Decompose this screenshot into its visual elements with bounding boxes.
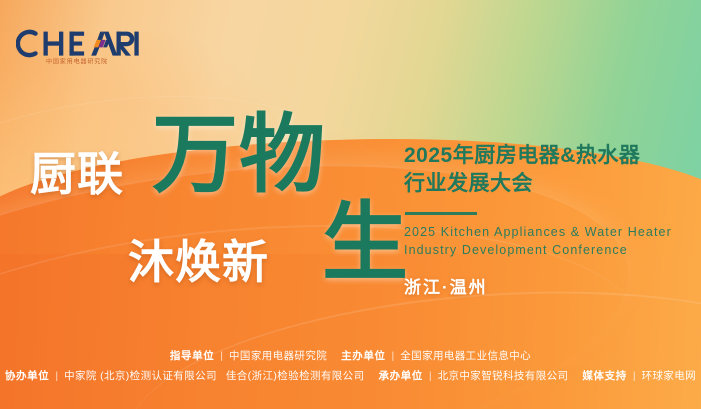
headline-sheng: 生 [322, 200, 409, 286]
headline-muhuanxin: 沐焕新 [128, 226, 269, 292]
event-info-block: 2025年厨房电器&热水器 行业发展大会 2025 Kitchen Applia… [404, 142, 690, 298]
cheari-logo-subtitle: 中国家用电器研究院 [46, 57, 108, 65]
event-title-en-line2: Industry Development Conference [404, 242, 690, 260]
credit-label: 媒体支持 [582, 367, 626, 387]
conference-banner: 中国家用电器研究院 厨联 万物 沐焕新 生 2025年厨房电器&热水器 行业发展… [0, 0, 701, 409]
credit-item: 佳合(浙江)检验检测有限公司 [226, 367, 365, 387]
credit-separator: | [220, 347, 223, 367]
credit-value: 北京中家智锐科技有限公司 [438, 367, 569, 387]
event-title-en-line1: 2025 Kitchen Appliances & Water Heater [404, 224, 690, 242]
credit-label: 承办单位 [378, 367, 422, 387]
event-location: 浙江·温州 [404, 273, 690, 298]
credit-item: 承办单位 | 北京中家智锐科技有限公司 [378, 367, 568, 387]
cheari-logo: 中国家用电器研究院 [16, 28, 140, 66]
credit-separator: | [633, 367, 636, 387]
credit-label: 主办单位 [341, 347, 385, 367]
credit-separator: | [55, 367, 58, 387]
credit-value: 中国家用电器研究院 [229, 347, 327, 367]
credit-item: 指导单位 | 中国家用电器研究院 [170, 347, 327, 367]
event-title-cn-line1: 2025年厨房电器&热水器 [404, 142, 690, 170]
title-divider-rule [405, 212, 477, 215]
headline-chulian: 厨联 [30, 138, 124, 204]
credits-row-2: 协办单位 | 中家院 (北京)检测认证有限公司 佳合(浙江)检验检测有限公司 承… [0, 367, 701, 387]
credit-item: 主办单位 | 全国家用电器工业信息中心 [341, 347, 531, 367]
credit-separator: | [392, 347, 395, 367]
credits-row-1: 指导单位 | 中国家用电器研究院 主办单位 | 全国家用电器工业信息中心 [0, 347, 701, 367]
credit-value: 中家院 (北京)检测认证有限公司 [64, 367, 217, 387]
credit-item: 媒体支持 | 环球家电网 [582, 367, 696, 387]
cheari-logo-mark: 中国家用电器研究院 [16, 28, 140, 66]
event-title-cn-line2: 行业发展大会 [404, 170, 690, 198]
credit-item: 协办单位 | 中家院 (北京)检测认证有限公司 [5, 367, 217, 387]
headline: 厨联 万物 沐焕新 生 [30, 108, 396, 300]
credit-value: 全国家用电器工业信息中心 [400, 347, 531, 367]
credits: 指导单位 | 中国家用电器研究院 主办单位 | 全国家用电器工业信息中心 协办单… [0, 347, 701, 387]
credit-label: 指导单位 [170, 347, 214, 367]
credit-separator: | [429, 367, 432, 387]
credit-label: 协办单位 [5, 367, 49, 387]
credit-value: 佳合(浙江)检验检测有限公司 [226, 367, 365, 387]
cheari-logo-a-glyph [91, 32, 117, 56]
credit-value: 环球家电网 [642, 367, 697, 387]
headline-wanwu: 万物 [152, 112, 326, 198]
